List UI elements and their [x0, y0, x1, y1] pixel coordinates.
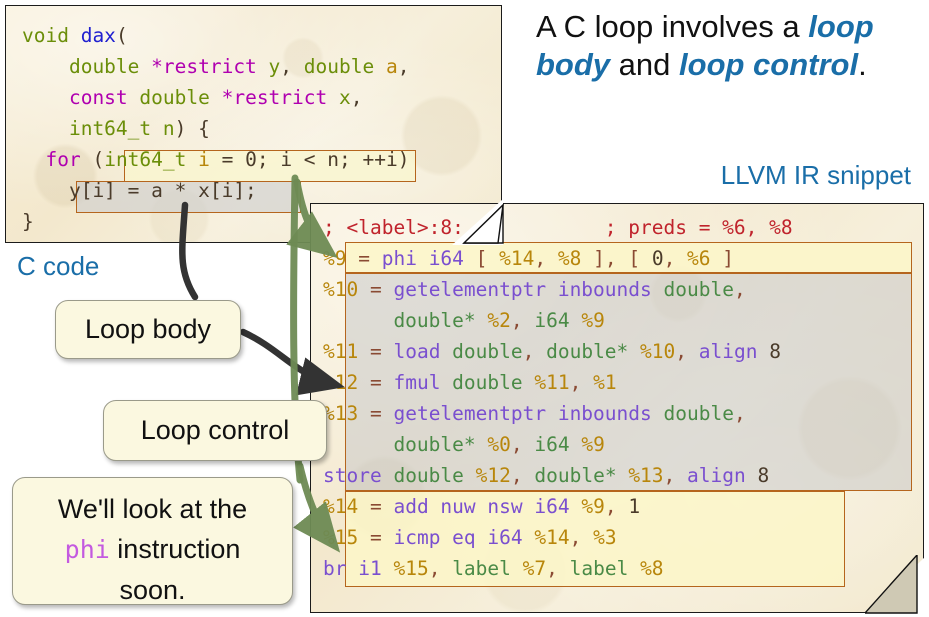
code-token: =: [358, 402, 393, 425]
code-token: ,: [734, 402, 746, 425]
code-token: align: [687, 464, 757, 487]
code-token: ,: [511, 464, 534, 487]
code-token: ,: [570, 371, 593, 394]
code-token: [523, 526, 535, 549]
code-token: getelementptr inbounds: [393, 402, 663, 425]
code-token: double: [452, 340, 522, 363]
code-token: %11: [534, 371, 569, 394]
c-panel-folded-corner-icon: [452, 199, 504, 245]
code-token: ): [398, 148, 410, 171]
code-token: y: [269, 55, 281, 78]
code-token: ; preds = %6, %8: [605, 216, 793, 239]
code-token: %13: [323, 402, 358, 425]
code-line: ; <label>:8: ; preds = %6, %8: [323, 212, 929, 243]
callout-loop-control-label: Loop control: [141, 415, 290, 445]
code-token: %12: [476, 464, 511, 487]
code-token: i64: [487, 526, 522, 549]
code-token: double: [664, 402, 734, 425]
code-token: ,: [570, 526, 593, 549]
code-token: %11: [323, 340, 358, 363]
headline-part1: A C loop involves a: [536, 9, 808, 44]
code-token: align: [699, 340, 769, 363]
code-token: ,: [605, 247, 628, 270]
code-token: store: [323, 464, 393, 487]
code-line: br i1 %15, label %7, label %8: [323, 553, 929, 584]
code-line: double* %2, i64 %9: [323, 305, 929, 336]
code-token: %10: [323, 278, 358, 301]
code-token: add nuw nsw: [393, 495, 534, 518]
code-line: %14 = add nuw nsw i64 %9, 1: [323, 491, 929, 522]
code-token: [476, 433, 488, 456]
code-token: fmul: [393, 371, 452, 394]
callout-loop-body[interactable]: Loop body: [55, 300, 241, 359]
code-token: ,: [398, 55, 410, 78]
code-token: [: [628, 247, 651, 270]
page-title: A C loop involves a loop body and loop c…: [536, 8, 928, 84]
code-token: *restrict: [222, 86, 339, 109]
code-token: double*: [323, 309, 476, 332]
code-token: ]: [711, 247, 734, 270]
code-token: =: [358, 495, 393, 518]
code-token: [570, 433, 582, 456]
callout-loop-body-label: Loop body: [85, 314, 211, 344]
code-token: [628, 557, 640, 580]
code-token: 1: [628, 495, 640, 518]
code-token: double: [452, 371, 522, 394]
code-token: ,: [734, 278, 746, 301]
code-token: load: [393, 340, 452, 363]
code-token: ; <label>:8:: [323, 216, 464, 239]
code-line: y[i] = a * x[i];: [22, 175, 517, 206]
code-token: [570, 309, 582, 332]
phi-keyword: phi: [65, 535, 110, 564]
code-token: ,: [534, 247, 557, 270]
code-token: n: [163, 117, 175, 140]
code-token: %13: [628, 464, 663, 487]
code-token: =: [358, 340, 393, 363]
code-token: br: [323, 557, 358, 580]
code-token: [464, 464, 476, 487]
code-token: i1: [358, 557, 381, 580]
code-token: double*: [546, 340, 628, 363]
code-token: ) {: [175, 117, 210, 140]
code-token: i64: [534, 495, 569, 518]
code-token: i64: [534, 433, 569, 456]
code-token: %14: [323, 495, 358, 518]
code-token: %3: [593, 526, 616, 549]
code-token: for: [22, 148, 92, 171]
code-token: =: [346, 247, 381, 270]
code-token: [628, 340, 640, 363]
code-line: %12 = fmul double %11, %1: [323, 367, 929, 398]
code-token: %1: [593, 371, 616, 394]
code-token: ,: [511, 309, 534, 332]
code-token: ,: [605, 495, 628, 518]
code-token: phi: [382, 247, 429, 270]
code-token: i64: [429, 247, 464, 270]
code-line: int64_t n) {: [22, 113, 517, 144]
headline-part3: .: [858, 47, 867, 82]
llvm-ir-text: ; <label>:8: ; preds = %6, %8%9 = phi i6…: [323, 212, 929, 584]
code-token: %12: [323, 371, 358, 394]
code-token: =: [358, 278, 393, 301]
code-token: %8: [558, 247, 581, 270]
callout-phi-note[interactable]: We'll look at the phi instruction soon.: [12, 477, 293, 605]
code-line: store double %12, double* %13, align 8: [323, 460, 929, 491]
code-token: %14: [499, 247, 534, 270]
code-token: i: [198, 148, 210, 171]
code-token: %15: [323, 526, 358, 549]
code-token: ,: [511, 433, 534, 456]
phi-note-line-1: We'll look at the: [13, 489, 292, 529]
code-token: %15: [393, 557, 428, 580]
code-token: [: [464, 247, 499, 270]
code-token: =: [358, 526, 393, 549]
code-token: ,: [280, 55, 303, 78]
code-token: label: [452, 557, 511, 580]
code-token: y[i] = a * x[i];: [22, 179, 257, 202]
ir-panel-folded-corner-icon: [865, 555, 927, 615]
code-token: %0: [487, 433, 510, 456]
code-token: double: [22, 55, 151, 78]
code-token: i64: [534, 309, 569, 332]
phi-note-line-3: soon.: [13, 570, 292, 610]
code-token: a: [386, 55, 398, 78]
code-token: [617, 464, 629, 487]
code-token: ,: [675, 340, 698, 363]
code-token: dax: [81, 24, 116, 47]
code-token: 0: [652, 247, 664, 270]
code-token: double: [393, 464, 463, 487]
slide-canvas: void dax( double *restrict y, double a, …: [0, 0, 929, 617]
code-token: ,: [664, 247, 687, 270]
code-line: double *restrict y, double a,: [22, 51, 517, 82]
code-token: double: [139, 86, 221, 109]
headline-em-loop-control: loop control: [679, 47, 858, 82]
phi-note-line-2: phi instruction: [13, 529, 292, 570]
headline-part2: and: [610, 47, 679, 82]
code-token: ,: [523, 340, 546, 363]
c-code-caption: C code: [17, 251, 99, 282]
code-token: [382, 557, 394, 580]
code-line: %10 = getelementptr inbounds double,: [323, 274, 929, 305]
code-token: x: [339, 86, 351, 109]
code-token: 8: [757, 464, 769, 487]
code-line: void dax(: [22, 20, 517, 51]
code-line: double* %0, i64 %9: [323, 429, 929, 460]
code-line: %13 = getelementptr inbounds double,: [323, 398, 929, 429]
code-token: [570, 495, 582, 518]
code-token: %9: [581, 433, 604, 456]
code-token: double: [304, 55, 386, 78]
code-token: [476, 309, 488, 332]
code-token: ,: [664, 464, 687, 487]
code-token: int64_t: [104, 148, 198, 171]
code-token: }: [22, 210, 34, 233]
code-token: getelementptr inbounds: [393, 278, 663, 301]
code-token: %9: [323, 247, 346, 270]
code-token: *restrict: [151, 55, 268, 78]
code-token: %6: [687, 247, 710, 270]
phi-note-line-2-rest: instruction: [110, 534, 241, 564]
code-token: double*: [534, 464, 616, 487]
code-line: %11 = load double, double* %10, align 8: [323, 336, 929, 367]
code-token: [511, 557, 523, 580]
code-token: 8: [769, 340, 781, 363]
code-token: = 0; i < n; ++i: [210, 148, 398, 171]
code-line: const double *restrict x,: [22, 82, 517, 113]
code-token: (: [92, 148, 104, 171]
code-token: %8: [640, 557, 663, 580]
code-line: %15 = icmp eq i64 %14, %3: [323, 522, 929, 553]
code-token: void: [22, 24, 81, 47]
code-token: ,: [429, 557, 452, 580]
code-token: (: [116, 24, 128, 47]
code-token: double: [664, 278, 734, 301]
code-token: %10: [640, 340, 675, 363]
llvm-ir-panel: ; <label>:8: ; preds = %6, %8%9 = phi i6…: [310, 203, 924, 613]
code-token: %2: [487, 309, 510, 332]
code-token: ,: [351, 86, 363, 109]
code-token: %9: [581, 495, 604, 518]
code-line: %9 = phi i64 [ %14, %8 ], [ 0, %6 ]: [323, 243, 929, 274]
code-line: for (int64_t i = 0; i < n; ++i): [22, 144, 517, 175]
c-code-text: void dax( double *restrict y, double a, …: [22, 20, 517, 237]
code-token: int64_t: [22, 117, 163, 140]
code-token: double*: [323, 433, 476, 456]
code-token: label: [570, 557, 629, 580]
code-token: const: [22, 86, 139, 109]
callout-loop-control[interactable]: Loop control: [103, 400, 327, 461]
c-code-panel: void dax( double *restrict y, double a, …: [5, 5, 502, 243]
code-token: ]: [581, 247, 604, 270]
code-token: [523, 371, 535, 394]
code-token: %7: [523, 557, 546, 580]
code-token: =: [358, 371, 393, 394]
code-token: %9: [581, 309, 604, 332]
code-token: ,: [546, 557, 569, 580]
code-token: %14: [534, 526, 569, 549]
llvm-ir-caption: LLVM IR snippet: [721, 160, 911, 191]
code-token: icmp eq: [393, 526, 487, 549]
